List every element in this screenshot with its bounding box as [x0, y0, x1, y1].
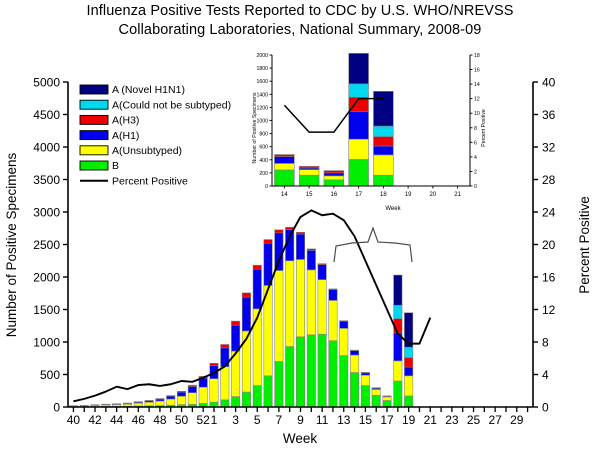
y-tick-label: 2500	[33, 238, 60, 252]
y2-tick-label: 24	[542, 205, 556, 219]
inset-bar-segment-unsubtyped	[324, 176, 344, 180]
inset-y-tick-label: 2000	[256, 53, 268, 59]
legend-item: A (Novel H1N1)	[80, 84, 185, 96]
x-tick-label: 25	[467, 413, 481, 427]
x-tick-label: 17	[380, 413, 394, 427]
y2-tick-label: 8	[542, 335, 549, 349]
x-tick-label: 46	[132, 413, 146, 427]
inset-y-tick-label: 800	[259, 132, 268, 138]
inset-bar-segment-unsubtyped	[373, 155, 393, 175]
y2-tick-label: 40	[542, 75, 556, 89]
y2-tick-label: 28	[542, 173, 556, 187]
bar-segment-b	[275, 362, 283, 408]
inset-y2-tick-label: 0	[474, 184, 477, 190]
inset-bar-segment-unsubtyped	[349, 139, 369, 159]
bar-segment-unsubtyped	[253, 309, 261, 386]
bar-segment-h1	[177, 392, 185, 396]
bar-segment-h3	[318, 264, 326, 265]
inset-bar-segment-novel-h1n1	[349, 53, 369, 83]
bar-segment-unsubtyped	[394, 361, 402, 381]
legend-label: B	[112, 160, 119, 172]
legend-item: Percent Positive	[80, 175, 188, 187]
legend-item: A(Unsubtyped)	[80, 145, 182, 157]
bar-segment-h3	[156, 399, 164, 400]
x-tick-label: 9	[297, 413, 304, 427]
inset-y2-tick-label: 8	[474, 126, 477, 132]
bar-group	[340, 321, 348, 407]
bar-segment-h3	[112, 404, 120, 405]
inset-y2-tick-label: 2	[474, 169, 477, 175]
y-tick-label: 5000	[33, 75, 60, 89]
bar-segment-b	[231, 397, 239, 407]
x-tick-label: 44	[110, 413, 124, 427]
bar-segment-h1	[253, 269, 261, 309]
bar-segment-unsubtyped	[340, 328, 348, 355]
inset-bar-group	[274, 155, 294, 186]
bar-group	[199, 376, 207, 407]
inset-y-tick-label: 1600	[256, 79, 268, 85]
inset-y2-tick-label: 10	[474, 111, 480, 117]
inset-x-tick-label: 20	[430, 192, 437, 198]
x-tick-label: 15	[359, 413, 373, 427]
legend-color-swatch	[80, 161, 108, 170]
legend-label: A(H1)	[112, 130, 139, 142]
bar-group	[361, 372, 369, 407]
bar-segment-b	[372, 395, 380, 407]
x-tick-label: 3	[232, 413, 239, 427]
bar-group	[156, 399, 164, 407]
inset-bar-segment-unsubtyped	[274, 163, 294, 170]
legend-color-swatch	[80, 85, 108, 94]
inset-bar-segment-b	[324, 180, 344, 186]
bar-group	[383, 396, 391, 407]
bar-segment-not-subtyped	[394, 305, 402, 318]
x-tick-label: 19	[402, 413, 416, 427]
legend-item: A(H1)	[80, 130, 139, 142]
inset-x-tick-label: 18	[380, 192, 387, 198]
bar-segment-unsubtyped	[350, 355, 358, 373]
bar-segment-b	[221, 400, 229, 407]
inset-bar-segment-b	[349, 159, 369, 186]
y-tick-label: 1500	[33, 303, 60, 317]
inset-y2-tick-label: 14	[474, 82, 480, 88]
bar-segment-h3	[231, 321, 239, 325]
inset-bar-segment-h1	[274, 157, 294, 164]
inset-bar-segment-b	[274, 170, 294, 186]
bar-segment-b	[404, 396, 412, 407]
bar-segment-h1	[296, 234, 304, 259]
inset-x-tick-label: 16	[331, 192, 338, 198]
bar-segment-b	[350, 373, 358, 407]
legend-label: A(H3)	[112, 115, 139, 127]
y-tick-label: 500	[40, 368, 60, 382]
y-tick-label: 4500	[33, 108, 60, 122]
bar-segment-h3	[177, 391, 185, 392]
bar-segment-b	[361, 386, 369, 407]
bar-group	[221, 344, 229, 407]
main-y-tick-labels: 0500100015002000250030003500400045005000	[33, 75, 60, 414]
bar-segment-novel-h1n1	[394, 275, 402, 305]
inset-y-tick-label: 400	[259, 158, 268, 164]
bar-group	[394, 275, 402, 407]
bar-segment-b	[264, 376, 272, 407]
bar-segment-unsubtyped	[199, 387, 207, 403]
inset-y-axis-title: Number of Positive Specimens	[252, 92, 258, 163]
bar-segment-h3	[383, 396, 391, 397]
inset-y-tick-label: 1800	[256, 66, 268, 72]
legend-item: A(Could not be subtyped)	[80, 99, 231, 111]
bar-segment-h3	[167, 396, 175, 397]
legend-color-swatch	[80, 146, 108, 155]
inset-y2-axis-title: Percent Positive	[481, 109, 487, 147]
bar-segment-b	[394, 381, 402, 407]
inset-bar-segment-h3	[299, 166, 319, 168]
inset-bar-segment-novel-h1n1	[373, 91, 393, 126]
y-tick-label: 2000	[33, 270, 60, 284]
chart-title: Influenza Positive Tests Reported to CDC…	[0, 2, 600, 40]
x-tick-label: 27	[488, 413, 502, 427]
y-tick-label: 4000	[33, 140, 60, 154]
inset-x-tick-label: 21	[454, 192, 461, 198]
bar-group	[145, 400, 153, 407]
bar-segment-h3	[145, 400, 153, 401]
legend-label: Percent Positive	[112, 175, 188, 187]
inset-y-tick-label: 0	[265, 184, 268, 190]
bar-segment-h1	[307, 250, 315, 270]
bar-segment-h3	[102, 404, 110, 405]
bar-segment-unsubtyped	[145, 402, 153, 406]
x-tick-label: 40	[67, 413, 81, 427]
inset-bar-segment-h1	[349, 111, 369, 139]
x-tick-label: 42	[88, 413, 102, 427]
y-tick-label: 0	[53, 400, 60, 414]
bar-segment-h3	[264, 240, 272, 244]
bar-segment-h3	[350, 350, 358, 351]
y2-tick-label: 12	[542, 303, 556, 317]
bar-segment-b	[340, 356, 348, 407]
x-tick-label: 1	[211, 413, 218, 427]
inset-bar-segment-b	[299, 175, 319, 186]
bar-segment-unsubtyped	[188, 393, 196, 405]
bar-segment-unsubtyped	[210, 379, 218, 402]
bar-segment-unsubtyped	[275, 271, 283, 362]
bar-segment-b	[318, 334, 326, 407]
main-bar-series-group	[69, 227, 413, 407]
bar-segment-h1	[329, 290, 337, 301]
legend-label: A(Unsubtyped)	[112, 145, 182, 157]
y-tick-label: 1000	[33, 335, 60, 349]
bar-segment-unsubtyped	[285, 261, 293, 347]
influenza-surveillance-figure: Influenza Positive Tests Reported to CDC…	[0, 0, 600, 450]
main-y-axis-title: Number of Positive Specimens	[4, 152, 19, 337]
inset-y-tick-label: 200	[259, 171, 268, 177]
inset-bar-segment-h3	[274, 155, 294, 157]
bar-group	[264, 240, 272, 407]
y2-tick-label: 4	[542, 368, 549, 382]
bar-segment-h1	[350, 350, 358, 355]
chart-title-line-1: Influenza Positive Tests Reported to CDC…	[0, 2, 600, 21]
bar-segment-b	[242, 392, 250, 407]
inset-bar-segment-not-subtyped	[373, 126, 393, 136]
bar-segment-h3	[221, 344, 229, 347]
inset-bar-group	[349, 53, 369, 186]
inset-callout-brace	[334, 228, 412, 262]
x-tick-label: 5	[254, 413, 261, 427]
x-tick-label: 11	[316, 413, 329, 427]
legend-label: A (Novel H1N1)	[112, 84, 185, 96]
bar-segment-h1	[340, 321, 348, 328]
bar-group	[350, 350, 358, 407]
bar-segment-b	[307, 335, 315, 407]
inset-x-axis-title: Week	[385, 206, 401, 212]
bar-group	[253, 265, 261, 407]
bar-segment-h1	[242, 297, 250, 331]
bar-segment-h3	[275, 230, 283, 233]
inset-bar-group	[373, 91, 393, 186]
bar-group	[188, 385, 196, 407]
legend-item: A(H3)	[80, 115, 139, 127]
chart-canvas: 404244464850521357911131517192123252729 …	[0, 0, 600, 450]
x-tick-label: 48	[153, 413, 167, 427]
bar-segment-b	[383, 401, 391, 408]
bar-segment-unsubtyped	[383, 397, 391, 401]
bar-group	[296, 232, 304, 407]
x-tick-label: 29	[510, 413, 524, 427]
bar-segment-unsubtyped	[307, 270, 315, 335]
inset-bar-segment-h3	[324, 171, 344, 173]
x-tick-label: 21	[424, 413, 438, 427]
bar-segment-h3	[242, 293, 250, 297]
inset-y-tick-label: 1200	[256, 105, 268, 111]
inset-y2-tick-label: 18	[474, 53, 480, 59]
bar-segment-unsubtyped	[318, 280, 326, 335]
legend-color-swatch	[80, 131, 108, 140]
bar-segment-h1	[188, 387, 196, 393]
inset-x-tick-label: 14	[281, 192, 288, 198]
y2-tick-label: 0	[542, 400, 549, 414]
x-tick-label: 50	[175, 413, 189, 427]
bar-segment-h1	[231, 325, 239, 351]
y2-tick-label: 20	[542, 238, 556, 252]
inset-bar-group	[299, 166, 319, 186]
bar-segment-h3	[134, 402, 142, 403]
bar-group	[231, 321, 239, 407]
bar-segment-h3	[372, 388, 380, 389]
inset-bar-segment-b	[373, 175, 393, 186]
bar-segment-unsubtyped	[221, 367, 229, 400]
bar-segment-b	[253, 386, 261, 407]
inset-y-tick-label: 600	[259, 145, 268, 151]
bar-segment-b	[329, 341, 337, 407]
bar-group	[307, 249, 315, 407]
bar-segment-h3	[307, 249, 315, 250]
bar-segment-unsubtyped	[296, 259, 304, 336]
bar-segment-unsubtyped	[156, 401, 164, 406]
bar-segment-h3	[296, 232, 304, 234]
legend: A (Novel H1N1)A(Could not be subtyped)A(…	[80, 84, 231, 187]
inset-x-tick-label: 15	[306, 192, 313, 198]
inset-bar-segment-h1	[373, 146, 393, 155]
inset-y-tick-label: 1000	[256, 119, 268, 125]
inset-bar-segment-unsubtyped	[299, 170, 319, 176]
inset-y2-tick-label: 12	[474, 97, 480, 103]
inset-y2-tick-label: 6	[474, 140, 477, 146]
bar-segment-h3	[91, 405, 99, 406]
bar-segment-h3	[253, 265, 261, 269]
bar-segment-unsubtyped	[329, 300, 337, 340]
y2-tick-label: 32	[542, 140, 556, 154]
bar-segment-h3	[188, 385, 196, 386]
legend-color-swatch	[80, 115, 108, 124]
bar-group	[329, 289, 337, 407]
bar-segment-unsubtyped	[167, 399, 175, 405]
bar-segment-h1	[167, 396, 175, 399]
bar-segment-unsubtyped	[177, 396, 185, 404]
bar-segment-b	[296, 337, 304, 407]
legend-label: A(Could not be subtyped)	[112, 99, 231, 111]
x-tick-label: 13	[337, 413, 351, 427]
bar-segment-h3	[340, 321, 348, 322]
legend-color-swatch	[80, 100, 108, 109]
bar-segment-h3	[210, 363, 218, 365]
bar-segment-h1	[404, 367, 412, 376]
bar-segment-b	[285, 347, 293, 407]
legend-item: B	[80, 160, 119, 172]
inset-y2-tick-label: 4	[474, 155, 477, 161]
bar-segment-unsubtyped	[361, 375, 369, 385]
inset-bar-group	[324, 171, 344, 186]
bar-group	[242, 293, 250, 407]
bar-segment-unsubtyped	[404, 376, 412, 396]
bar-group	[285, 227, 293, 407]
bar-group	[177, 391, 185, 407]
inset-bar-segment-h3	[373, 137, 393, 147]
inset-bar-segment-not-subtyped	[349, 84, 369, 97]
bar-segment-h3	[123, 403, 131, 404]
bar-segment-unsubtyped	[123, 404, 131, 406]
bar-segment-not-subtyped	[404, 347, 412, 357]
bar-segment-h1	[318, 265, 326, 280]
main-x-axis-title: Week	[283, 431, 318, 446]
main-y2-tick-labels: 0481216202428323640	[542, 75, 556, 414]
y-tick-label: 3000	[33, 205, 60, 219]
bar-segment-h3	[404, 358, 412, 367]
inset-bar-segment-h1	[324, 173, 344, 176]
bar-segment-h3	[80, 406, 88, 407]
bar-segment-unsubtyped	[134, 403, 142, 406]
main-y2-axis-title: Percent Positive	[577, 196, 592, 294]
x-tick-label: 7	[276, 413, 283, 427]
bar-segment-h3	[361, 372, 369, 373]
x-tick-label: 23	[445, 413, 459, 427]
bar-group	[318, 264, 326, 407]
inset-y-tick-label: 1400	[256, 92, 268, 98]
bar-group	[210, 363, 218, 407]
bar-segment-unsubtyped	[372, 389, 380, 395]
y-tick-label: 3500	[33, 173, 60, 187]
y2-tick-label: 16	[542, 270, 556, 284]
x-tick-label: 52	[196, 413, 210, 427]
chart-title-line-2: Collaborating Laboratories, National Sum…	[0, 21, 600, 40]
main-x-tick-labels: 404244464850521357911131517192123252729	[67, 413, 524, 427]
bar-group	[167, 396, 175, 407]
inset-x-tick-label: 19	[405, 192, 412, 198]
y2-tick-label: 36	[542, 108, 556, 122]
bar-segment-h3	[329, 289, 337, 290]
bar-segment-h1	[275, 233, 283, 271]
inset-x-tick-label: 17	[355, 192, 362, 198]
bar-group	[404, 313, 412, 407]
inset-y2-tick-label: 16	[474, 68, 480, 74]
bar-group	[372, 388, 380, 407]
